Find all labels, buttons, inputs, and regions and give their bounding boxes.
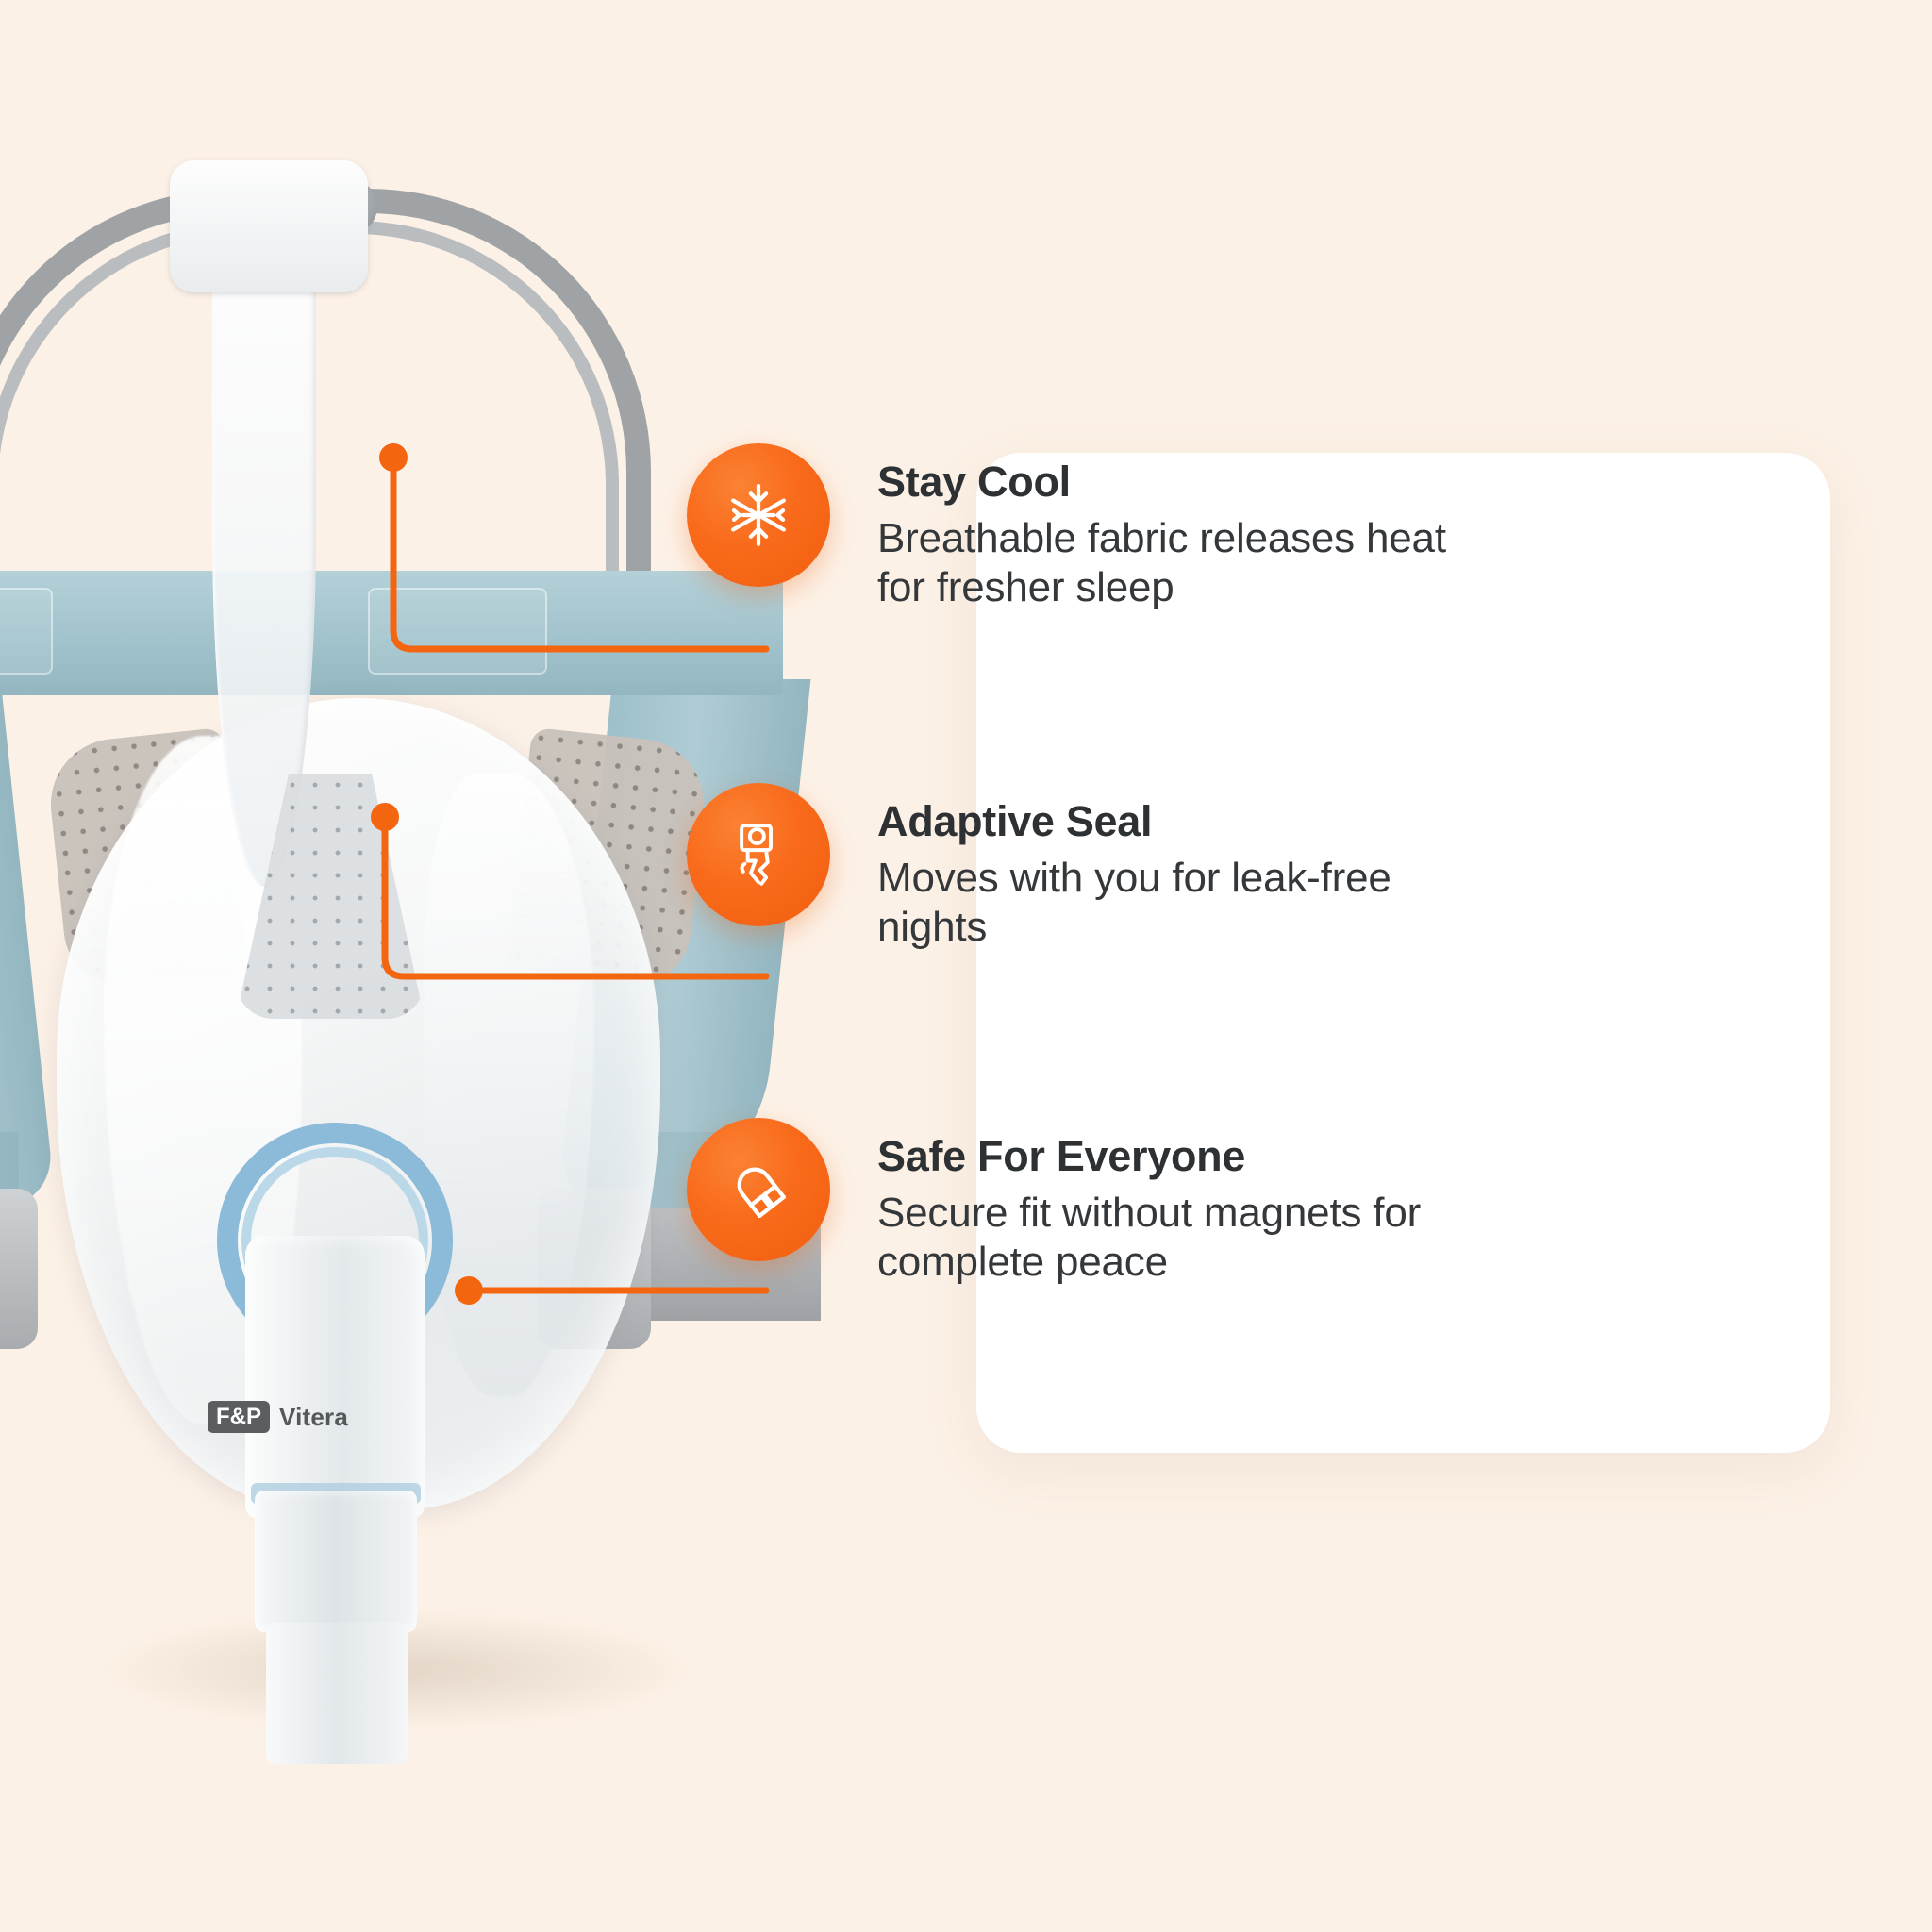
feature-item-stay-cool: Stay Cool Breathable fabric releases hea…: [687, 443, 1481, 612]
feature-title-1: Stay Cool: [877, 458, 1481, 506]
feature-title-3: Safe For Everyone: [877, 1133, 1481, 1180]
feature-description-3: Secure fit without magnets for complete …: [877, 1189, 1481, 1287]
mask-bridge-clip: [170, 160, 368, 292]
headgear-side-arm-left: [0, 679, 56, 1207]
person-moving-icon: [722, 818, 795, 891]
feature-text-2: Adaptive Seal Moves with you for leak-fr…: [877, 783, 1481, 952]
infographic-stage: F&P Vitera: [0, 0, 1932, 1932]
brand-mark: F&P: [208, 1401, 270, 1433]
product-image: F&P Vitera: [0, 170, 934, 1755]
magnet-icon: [722, 1153, 795, 1226]
feature-description-1: Breathable fabric releases heat for fres…: [877, 514, 1481, 612]
feature-icon-badge-1: [687, 443, 830, 587]
feature-text-1: Stay Cool Breathable fabric releases hea…: [877, 443, 1481, 612]
mask-elbow: [245, 1236, 425, 1519]
headgear-clip-left: [0, 1189, 38, 1349]
headgear-top-strap: [0, 571, 783, 695]
feature-description-2: Moves with you for leak-free nights: [877, 854, 1481, 952]
feature-title-2: Adaptive Seal: [877, 798, 1481, 845]
feature-icon-badge-3: [687, 1118, 830, 1261]
product-name: Vitera: [279, 1403, 348, 1432]
velcro-tab-left: [0, 588, 53, 675]
feature-item-safe-for-everyone: Safe For Everyone Secure fit without mag…: [687, 1118, 1481, 1287]
feature-item-adaptive-seal: Adaptive Seal Moves with you for leak-fr…: [687, 783, 1481, 952]
product-brand-badge: F&P Vitera: [208, 1401, 348, 1433]
velcro-tab-right: [368, 588, 547, 675]
mask-swivel: [255, 1491, 417, 1632]
mask-tube-port: [266, 1623, 408, 1764]
feature-icon-badge-2: [687, 783, 830, 926]
feature-text-3: Safe For Everyone Secure fit without mag…: [877, 1118, 1481, 1287]
snowflake-icon: [722, 478, 795, 552]
